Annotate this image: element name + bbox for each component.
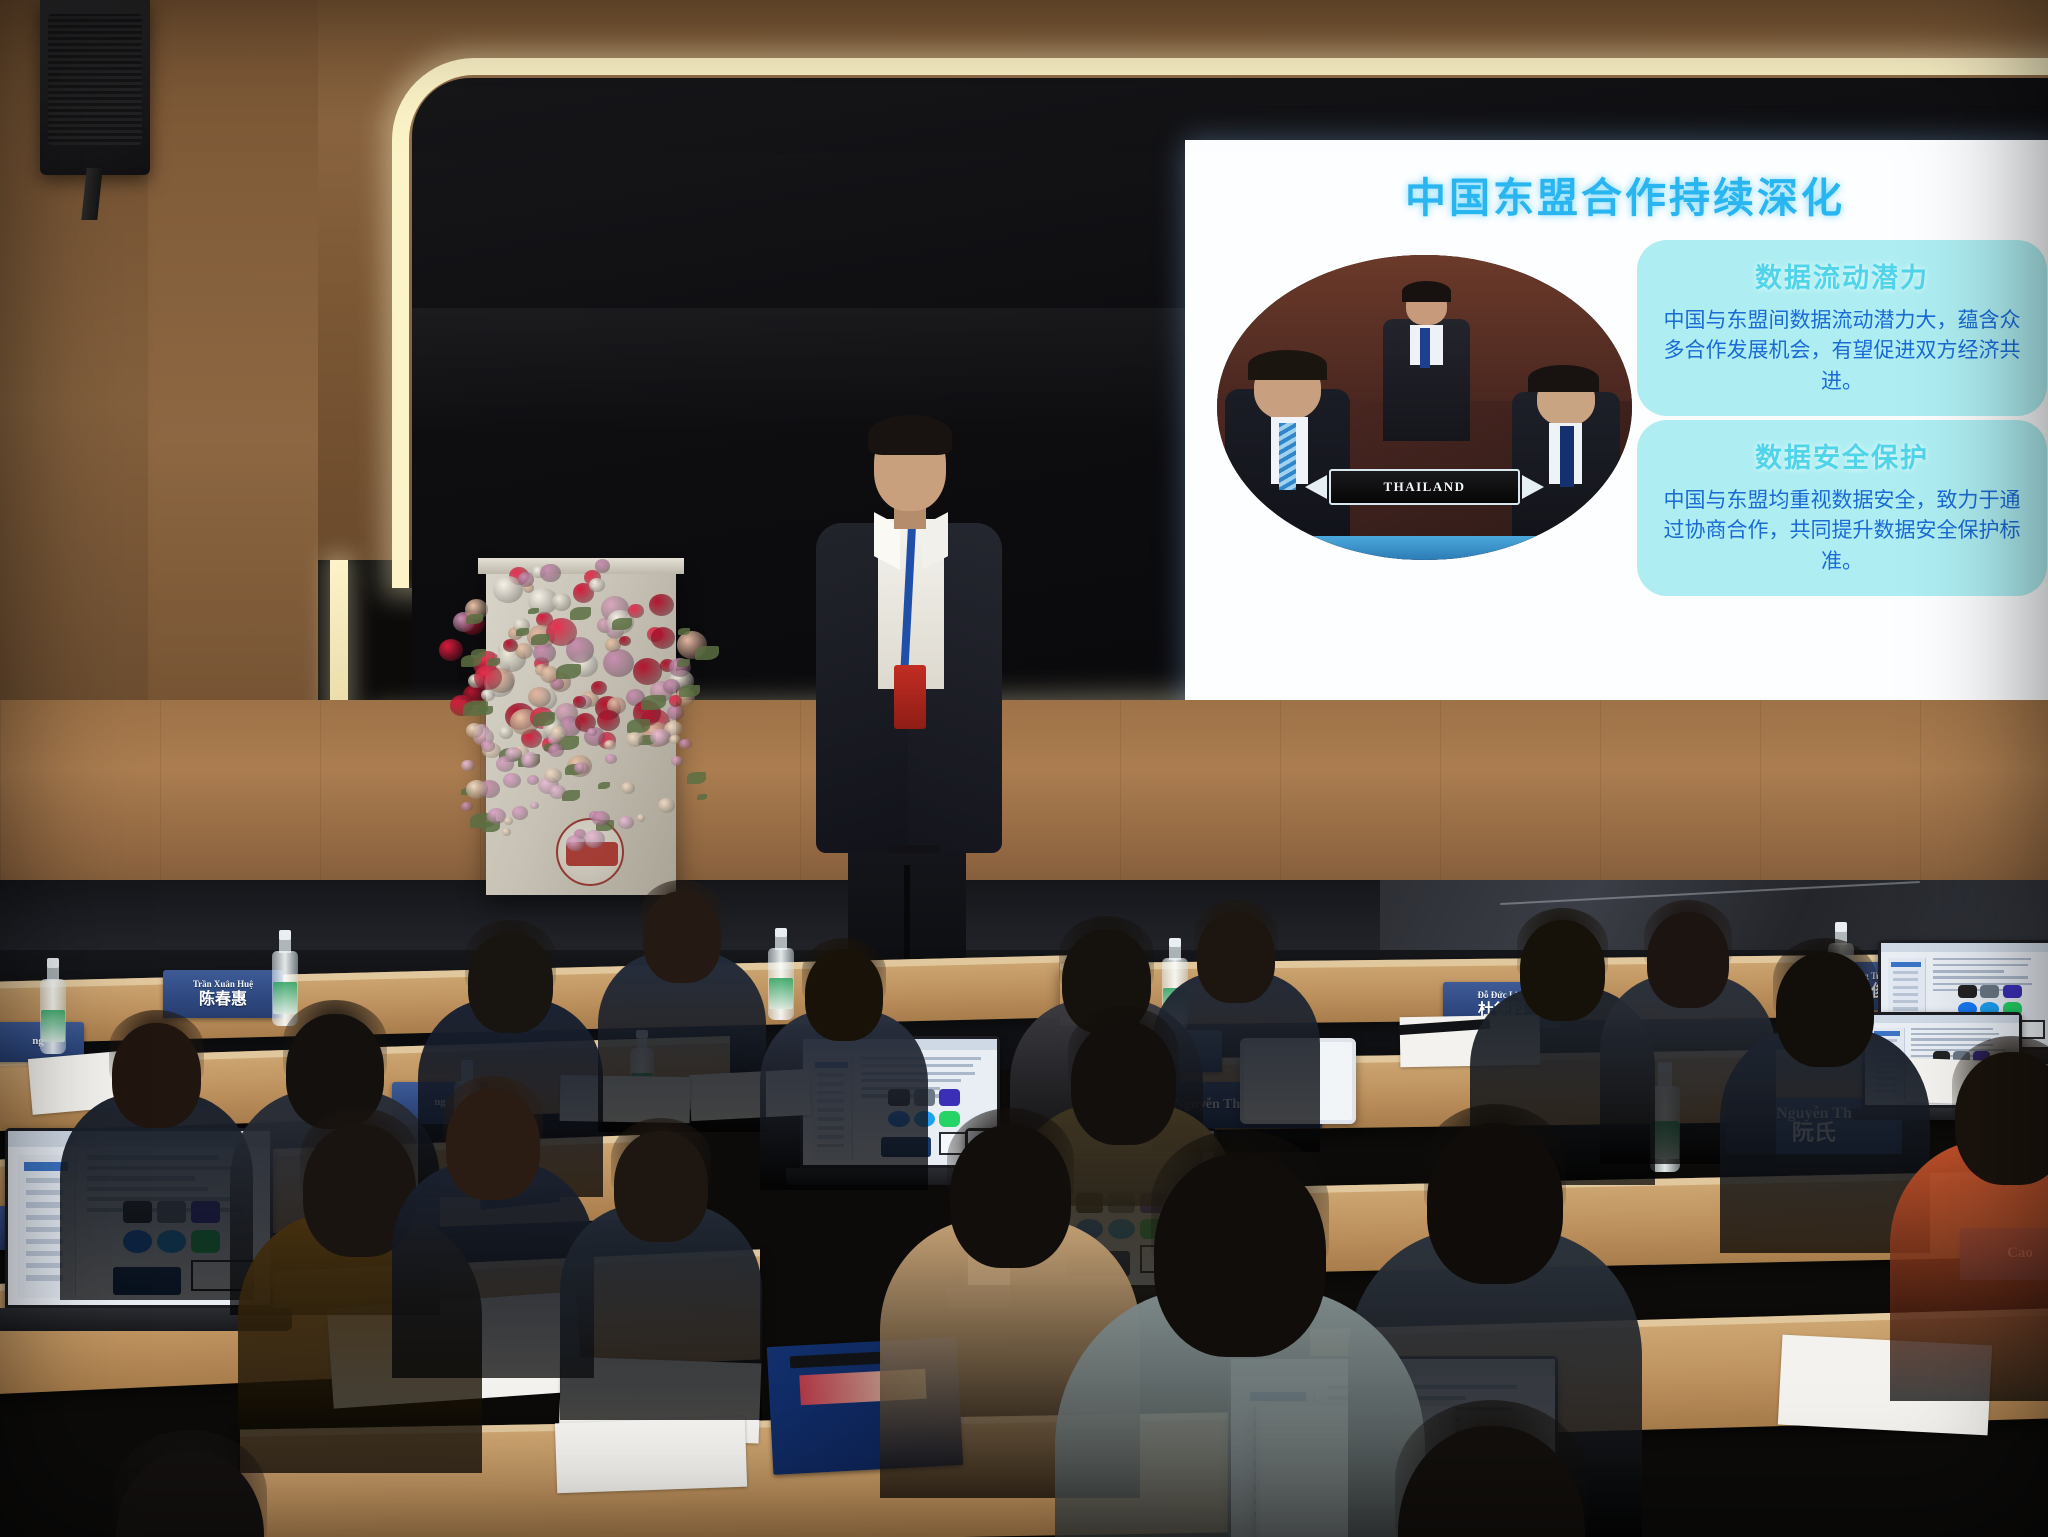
conference-hall-scene: 中国东盟合作持续深化 THAILAND 数据流动潜力 中国与东盟间数据流动潜力大… — [0, 0, 2048, 1537]
badge — [894, 665, 926, 729]
audience-attendee — [760, 938, 928, 1210]
audience-attendee — [1290, 1400, 1693, 1537]
callout-heading: 数据安全保护 — [1659, 436, 2025, 475]
slide-callout-data-flow: 数据流动潜力 中国与东盟间数据流动潜力大，蕴含众多合作发展机会，有望促进双方经济… — [1637, 240, 2047, 416]
callout-heading: 数据流动潜力 — [1659, 256, 2025, 295]
presentation-slide: 中国东盟合作持续深化 THAILAND 数据流动潜力 中国与东盟间数据流动潜力大… — [1185, 140, 2048, 720]
country-nameplate-label: THAILAND — [1383, 479, 1465, 495]
flower-arrangement — [430, 545, 710, 845]
audience-attendee — [1890, 1036, 2048, 1430]
country-nameplate: THAILAND — [1329, 469, 1520, 506]
presenter — [812, 415, 1002, 975]
audience-attendee — [30, 1430, 349, 1537]
audience-attendee — [560, 1118, 762, 1444]
audience-attendee — [598, 880, 766, 1152]
speaker-grill — [48, 14, 142, 145]
slide-photo: THAILAND — [1217, 255, 1632, 560]
slide-callout-data-security: 数据安全保护 中国与东盟均重视数据安全，致力于通过协商合作，共同提升数据安全保护… — [1637, 420, 2047, 596]
audience-attendee — [60, 1010, 253, 1323]
callout-body: 中国与东盟均重视数据安全，致力于通过协商合作，共同提升数据安全保护标准。 — [1659, 485, 2025, 576]
ceiling-speaker-icon — [40, 0, 150, 175]
screen-glow-left — [330, 560, 348, 720]
callout-body: 中国与东盟间数据流动潜力大，蕴含众多合作发展机会，有望促进双方经济共进。 — [1659, 305, 2025, 396]
slide-title: 中国东盟合作持续深化 — [1185, 164, 2048, 224]
audience-attendee — [1970, 1430, 2048, 1537]
